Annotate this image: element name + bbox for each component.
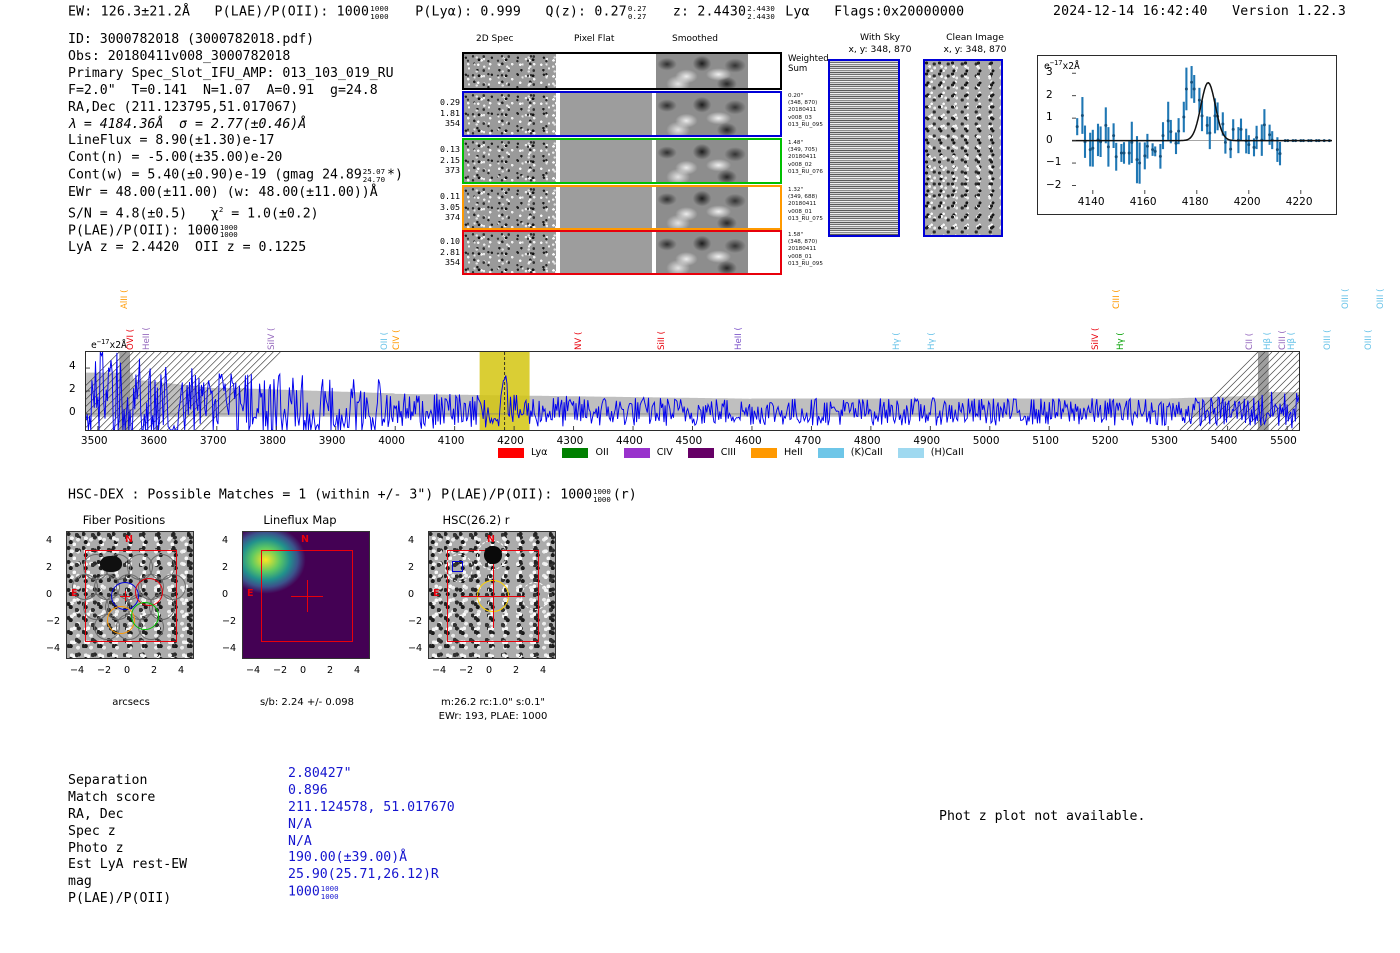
montage-stat: 0.10 xyxy=(422,236,460,247)
zoomspec-ytick: −1 xyxy=(1046,156,1061,168)
montage-stat: 373 xyxy=(422,165,460,176)
fullspec-xtick: 4000 xyxy=(378,435,405,447)
header-qz-label: Q(z): xyxy=(545,5,586,20)
cutout-title-with-sky: With Sky xyxy=(825,32,935,43)
header-plya-label: P(Lyα): xyxy=(415,5,472,20)
compass-north: N xyxy=(301,534,309,545)
panel-ytick: 0 xyxy=(46,589,52,600)
spectrum-line-label: SiIV ( xyxy=(1091,310,1101,350)
legend-item[interactable]: Lyα xyxy=(498,447,547,458)
montage-stat: 1.81 xyxy=(422,108,460,119)
bright-source-blob xyxy=(100,556,122,572)
legend-label: CIII xyxy=(721,447,736,458)
panel-ytick: 4 xyxy=(222,535,228,546)
zoomed-line-plot[interactable]: e−17x2Å −2−10123 41404160418042004220 xyxy=(1037,55,1337,215)
legend-item[interactable]: CIV xyxy=(624,447,673,458)
header-ew-value: 126.3±21.2Å xyxy=(101,5,191,20)
hsc-r-image[interactable]: N E xyxy=(428,531,556,659)
hsc-match-header: HSC-DEX : Possible Matches = 1 (within +… xyxy=(68,487,637,503)
spectrum-line-label: AlII ( xyxy=(120,273,130,309)
fullspec-xtick: 4700 xyxy=(794,435,821,447)
legend-item[interactable]: (K)CaII xyxy=(818,447,883,458)
panel-ytick: 2 xyxy=(46,562,52,573)
legend-swatch xyxy=(688,448,714,458)
info-radec: RA,Dec (211.123795,51.017067) xyxy=(68,100,403,117)
selected-fiber-green xyxy=(131,602,159,630)
compass-north: N xyxy=(125,534,133,545)
bright-source-blob xyxy=(484,546,502,564)
header-plae-label: P(LAE)/P(OII): xyxy=(215,5,329,20)
zoomspec-ytick: 2 xyxy=(1046,89,1053,101)
info-continuum-narrow: Cont(n) = -5.00(±35.00)e-20 xyxy=(68,150,403,167)
table-row-value: N/A xyxy=(288,834,312,851)
legend-item[interactable]: CIII xyxy=(688,447,736,458)
legend-item[interactable]: (H)CaII xyxy=(898,447,964,458)
compass-east: E xyxy=(71,588,78,599)
montage-stat: 0.11 xyxy=(422,191,460,202)
fiber-positions-image[interactable]: N E xyxy=(66,531,194,659)
zoomspec-xtick: 4140 xyxy=(1078,196,1105,208)
montage-stat: 0.13 xyxy=(422,144,460,155)
zoomspec-xtick: 4200 xyxy=(1234,196,1261,208)
catalog-aperture xyxy=(521,582,549,610)
fullspec-xtick: 4400 xyxy=(616,435,643,447)
fullspec-ytick: 0 xyxy=(69,406,76,418)
spectrum-line-label: Hγ ( xyxy=(927,310,937,350)
montage-row-meta: 1.58"(348, 870)20180411v008_01013_RU_095 xyxy=(788,232,848,268)
montage-stat: 2.81 xyxy=(422,247,460,258)
info-lineflux: LineFlux = 8.90(±1.30)e-17 xyxy=(68,133,403,150)
panel-ytick: 4 xyxy=(46,535,52,546)
caption-fiber-positions: arcsecs xyxy=(36,697,226,708)
montage-meta-line: (348, 870) xyxy=(788,239,848,246)
panel-title-fiber-positions: Fiber Positions xyxy=(34,513,214,527)
zoomspec-xtick: 4220 xyxy=(1286,196,1313,208)
info-id: ID: 3000782018 (3000782018.pdf) xyxy=(68,32,403,49)
panel-xtick: −2 xyxy=(273,665,287,676)
panel-ytick: 2 xyxy=(222,562,228,573)
table-row-label: Photo z xyxy=(68,841,124,858)
spectrum-line-label: SiIV ( xyxy=(267,310,277,350)
spectrum-line-label: Hγ ( xyxy=(1116,310,1126,350)
panel-xtick: 2 xyxy=(151,665,157,676)
legend-label: CIV xyxy=(657,447,673,458)
spectrum-line-label: CIII ( xyxy=(1112,273,1122,309)
montage-cell-2dspec xyxy=(464,187,556,228)
header-plya-value: 0.999 xyxy=(480,5,521,20)
panel-xtick: −4 xyxy=(246,665,260,676)
montage-row[interactable] xyxy=(462,52,782,90)
fullspec-xtick: 5300 xyxy=(1151,435,1178,447)
panel-ytick: −4 xyxy=(222,643,236,654)
panel-xtick: 4 xyxy=(178,665,184,676)
clean-image[interactable] xyxy=(923,59,1003,237)
matched-source-box xyxy=(452,561,463,572)
montage-cell-2dspec xyxy=(464,54,556,88)
panel-xtick: 4 xyxy=(540,665,546,676)
spectrum-line-label: Hβ ( xyxy=(1263,310,1273,350)
header-timestamp-block: 2024-12-14 16:42:40 Version 1.22.3 xyxy=(1053,4,1346,19)
legend-swatch xyxy=(562,448,588,458)
fullspec-xtick: 4800 xyxy=(854,435,881,447)
info-lambda-sigma: λ = 4184.36Å σ = 2.77(±0.46)Å xyxy=(68,117,403,134)
montage-title-smoothed: Smoothed xyxy=(672,34,718,44)
fullspec-canvas xyxy=(86,352,1299,430)
legend-label: HeII xyxy=(784,447,803,458)
header-qz-sub: 0.27 xyxy=(628,13,647,21)
montage-cell-2dspec xyxy=(464,232,556,273)
legend-swatch xyxy=(818,448,844,458)
table-row-value: 211.124578, 51.017670 xyxy=(288,800,455,817)
montage-stat: 354 xyxy=(422,257,460,268)
panel-xtick: 0 xyxy=(486,665,492,676)
full-spectrum-plot[interactable]: e−17x2Å xyxy=(85,351,1300,431)
table-row-value: 0.896 xyxy=(288,783,328,800)
panel-ytick: −2 xyxy=(222,616,236,627)
montage-cell-smoothed xyxy=(656,93,748,135)
hsc-header-text: HSC-DEX : Possible Matches = 1 (within +… xyxy=(68,488,592,503)
panel-xtick: 2 xyxy=(327,665,333,676)
lineflux-map-image[interactable]: N E xyxy=(242,531,370,659)
fullspec-xtick: 4100 xyxy=(438,435,465,447)
fullspec-ytick: 4 xyxy=(69,360,76,372)
caption-lineflux-map: s/b: 2.24 +/- 0.098 xyxy=(212,697,402,708)
header-plae-sub: 1000 xyxy=(370,13,389,21)
info-primary-slot: Primary Spec_Slot_IFU_AMP: 013_103_019_R… xyxy=(68,66,403,83)
legend-swatch xyxy=(898,448,924,458)
montage-cell-smoothed xyxy=(656,232,748,273)
legend-swatch xyxy=(751,448,777,458)
panel-xtick: 0 xyxy=(124,665,130,676)
compass-east: E xyxy=(433,588,440,599)
montage-row-stats: 0.102.81354 xyxy=(422,236,460,268)
caption-hsc-r: m:26.2 rc:1.0" s:0.1" xyxy=(398,697,588,708)
panel-xtick: 2 xyxy=(513,665,519,676)
montage-meta-line: v008_01 xyxy=(788,254,848,261)
spectrum-line-label: CIV ( xyxy=(392,310,402,350)
header-ew-label: EW: xyxy=(68,5,92,20)
header-datetime: 2024-12-14 16:42:40 xyxy=(1053,4,1208,19)
montage-cell-2dspec xyxy=(464,140,556,182)
spectrum-line-label: OVI ( xyxy=(126,310,136,350)
legend-label: Lyα xyxy=(531,447,547,458)
target-marker xyxy=(307,580,308,612)
spectrum-line-label: Hβ ( xyxy=(1287,310,1297,350)
legend-swatch xyxy=(498,448,524,458)
panel-xtick: −2 xyxy=(459,665,473,676)
fullspec-xtick: 4300 xyxy=(557,435,584,447)
montage-row[interactable] xyxy=(462,138,782,184)
table-row-label: Est LyA rest-EW xyxy=(68,857,187,874)
twod-spec-montage: 2D Spec Pixel Flat Smoothed Weighted Sum… xyxy=(422,34,802,249)
target-marker xyxy=(493,564,494,628)
cutout-title-clean-image: Clean Image xyxy=(920,32,1030,43)
panel-ytick: −4 xyxy=(408,643,422,654)
montage-row[interactable] xyxy=(462,185,782,230)
montage-row[interactable] xyxy=(462,91,782,137)
panel-xtick: −4 xyxy=(70,665,84,676)
montage-title-pixelflat: Pixel Flat xyxy=(574,34,614,44)
panel-title-lineflux-map: Lineflux Map xyxy=(210,513,390,527)
with-sky-image[interactable] xyxy=(828,59,900,237)
fullspec-xtick: 5400 xyxy=(1211,435,1238,447)
fullspec-xtick: 3600 xyxy=(140,435,167,447)
info-redshifts: LyA z = 2.4420 OII z = 0.1225 xyxy=(68,240,403,257)
info-obs: Obs: 20180411v008_3000782018 xyxy=(68,49,403,66)
table-row-label: Separation xyxy=(68,773,147,790)
spectrum-line-label: OIII ( xyxy=(1364,310,1374,350)
table-row-label: mag xyxy=(68,874,92,891)
panel-xtick: −4 xyxy=(432,665,446,676)
table-row-value: 190.00(±39.00)Å xyxy=(288,850,407,867)
photoz-unavailable-message: Phot z plot not available. xyxy=(939,809,1145,824)
fullspec-xtick: 3700 xyxy=(200,435,227,447)
panel-ytick: −2 xyxy=(408,616,422,627)
zoomspec-ytick: 1 xyxy=(1046,111,1053,123)
table-row-label: Match score xyxy=(68,790,155,807)
panel-ytick: 4 xyxy=(408,535,414,546)
montage-row[interactable] xyxy=(462,230,782,275)
compass-east: E xyxy=(247,588,254,599)
fullspec-xtick: 4900 xyxy=(913,435,940,447)
montage-row-stats: 0.132.15373 xyxy=(422,144,460,176)
spectrum-line-label: NV ( xyxy=(574,310,584,350)
header-summary-line: EW: 126.3±21.2Å P(LAE)/P(OII): 100010001… xyxy=(68,4,964,20)
fullspec-xtick: 4500 xyxy=(676,435,703,447)
compass-north: N xyxy=(487,534,495,545)
spectrum-line-label: Hγ ( xyxy=(892,310,902,350)
zoomspec-ytick: −2 xyxy=(1046,179,1061,191)
header-z-label: z: xyxy=(673,5,689,20)
montage-cell-pixelflat xyxy=(560,54,652,88)
panel-ytick: 2 xyxy=(408,562,414,573)
table-row-value: 2.80427" xyxy=(288,766,352,783)
hsc-header-filter: (r) xyxy=(613,488,637,503)
montage-cell-smoothed xyxy=(656,187,748,228)
info-ewr: EWr = 48.00(±11.00) (w: 48.00(±11.00))Å xyxy=(68,185,403,202)
panel-xtick: 4 xyxy=(354,665,360,676)
fullspec-xtick: 4200 xyxy=(497,435,524,447)
montage-weighted-sum-label: Weighted Sum xyxy=(788,54,829,74)
target-marker xyxy=(125,591,126,601)
panel-xtick: 0 xyxy=(300,665,306,676)
panel-title-hsc-r: HSC(26.2) r xyxy=(386,513,566,527)
spectrum-line-label: SiII ( xyxy=(657,310,667,350)
montage-cell-smoothed xyxy=(656,140,748,182)
montage-meta-line: 20180411 xyxy=(788,246,848,253)
cutout-subtitle-with-sky: x, y: 348, 870 xyxy=(825,44,935,55)
legend-item[interactable]: OII xyxy=(562,447,608,458)
table-row-value: 100010001000 xyxy=(288,884,341,901)
montage-stat: 2.15 xyxy=(422,155,460,166)
spectrum-line-label: CII ( xyxy=(1245,310,1255,350)
fullspec-xtick: 4600 xyxy=(735,435,762,447)
montage-row-stats: 0.113.05374 xyxy=(422,191,460,223)
info-seeing: F=2.0" T=0.141 N=1.07 A=0.91 g=24.8 xyxy=(68,83,403,100)
legend-label: (H)CaII xyxy=(931,447,964,458)
header-z-value: 2.4430 xyxy=(697,5,746,20)
table-row-value: N/A xyxy=(288,817,312,834)
header-qz-value: 0.27 xyxy=(594,5,627,20)
header-z-line: Lyα xyxy=(785,5,809,20)
montage-cell-pixelflat xyxy=(560,232,652,273)
fullspec-xtick: 5000 xyxy=(973,435,1000,447)
montage-stat: 3.05 xyxy=(422,202,460,213)
montage-row-stats: 0.291.81354 xyxy=(422,97,460,129)
zoomspec-canvas xyxy=(1038,56,1338,216)
montage-stat: 0.29 xyxy=(422,97,460,108)
legend-item[interactable]: HeII xyxy=(751,447,803,458)
panel-xtick: −2 xyxy=(97,665,111,676)
header-version: Version 1.22.3 xyxy=(1232,4,1346,19)
montage-cell-pixelflat xyxy=(560,93,652,135)
table-row-label: P(LAE)/P(OII) xyxy=(68,891,171,908)
spectrum-legend: LyαOIICIVCIIIHeII(K)CaII(H)CaII xyxy=(498,447,979,458)
montage-cell-pixelflat xyxy=(560,140,652,182)
montage-stat: 354 xyxy=(422,118,460,129)
legend-label: (K)CaII xyxy=(851,447,883,458)
table-row-value: 25.90(25.71,26.12)R xyxy=(288,867,439,884)
montage-cell-2dspec xyxy=(464,93,556,135)
fullspec-xtick: 3500 xyxy=(81,435,108,447)
zoomspec-ytick: 3 xyxy=(1046,66,1053,78)
montage-title-2dspec: 2D Spec xyxy=(476,34,513,44)
cutout-subtitle-clean-image: x, y: 348, 870 xyxy=(920,44,1030,55)
zoomspec-xtick: 4160 xyxy=(1130,196,1157,208)
panel-ytick: −2 xyxy=(46,616,60,627)
header-flags: Flags:0x20000000 xyxy=(834,5,964,20)
fullspec-ytick: 2 xyxy=(69,383,76,395)
spectrum-line-label: OIII ( xyxy=(1323,310,1333,350)
table-row-label: Spec z xyxy=(68,824,116,841)
montage-cell-pixelflat xyxy=(560,187,652,228)
info-plae: P(LAE)/P(OII): 100010001000 xyxy=(68,223,403,240)
fullspec-xtick: 5500 xyxy=(1270,435,1297,447)
zoomspec-xtick: 4180 xyxy=(1182,196,1209,208)
spectrum-line-label: OIII ( xyxy=(1376,273,1386,309)
montage-meta-line: 013_RU_095 xyxy=(788,261,848,268)
zoomspec-ytick: 0 xyxy=(1046,134,1053,146)
fullspec-xtick: 3900 xyxy=(319,435,346,447)
header-z-sub: 2.4430 xyxy=(747,13,775,21)
panel-ytick: 0 xyxy=(222,589,228,600)
montage-cell-smoothed xyxy=(656,54,748,88)
fullspec-xtick: 5100 xyxy=(1032,435,1059,447)
fullspec-xtick: 3800 xyxy=(259,435,286,447)
source-info-block: ID: 3000782018 (3000782018.pdf) Obs: 201… xyxy=(68,32,403,257)
montage-stat: 374 xyxy=(422,212,460,223)
panel-ytick: 0 xyxy=(408,589,414,600)
spectrum-line-label: HeII ( xyxy=(142,310,152,350)
panel-ytick: −4 xyxy=(46,643,60,654)
spectrum-line-label: OII ( xyxy=(380,310,390,350)
fullspec-yunit: e−17x2Å xyxy=(91,338,127,351)
spectrum-line-label: HeII ( xyxy=(734,310,744,350)
caption-hsc-r-secondary: EWr: 193, PLAE: 1000 xyxy=(398,711,588,722)
info-sn-chisq: S/N = 4.8(±0.5) χ2 = 1.0(±0.2) xyxy=(68,202,403,223)
table-row-label: RA, Dec xyxy=(68,807,124,824)
spectrum-line-label: OIII ( xyxy=(1341,273,1351,309)
info-continuum-wide: Cont(w) = 5.40(±0.90)e-19 (gmag 24.8925.… xyxy=(68,167,403,184)
fullspec-xtick: 5200 xyxy=(1092,435,1119,447)
header-plae-value: 1000 xyxy=(337,5,370,20)
legend-label: OII xyxy=(595,447,608,458)
legend-swatch xyxy=(624,448,650,458)
